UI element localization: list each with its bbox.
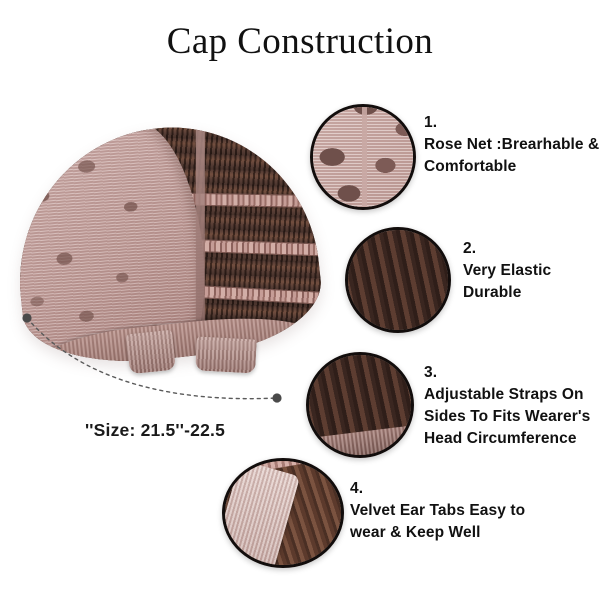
size-label: ''Size: 21.5''-22.5 [20,420,290,441]
velvet-tab-texture [222,458,344,568]
velvet-tab [222,460,299,568]
callout-2-text: 2. Very Elastic Durable [463,238,551,304]
callout-3-swatch-adjustable-strap-icon [306,352,414,458]
measurement-endpoint-dot [272,393,281,402]
callout-1-line-1: Rose Net :Brearhable & [424,134,599,156]
callout-4-line-2: wear & Keep Well [350,522,525,544]
callout-4-text: 4. Velvet Ear Tabs Easy to wear & Keep W… [350,478,525,544]
callout-1-number: 1. [424,112,599,134]
callout-3-line-3: Head Circumference [424,428,590,450]
callout-4-swatch-velvet-ear-tab-icon [222,458,344,568]
callout-3-line-1: Adjustable Straps On [424,384,590,406]
velvet-ear-tab [126,330,176,375]
lace-seam [362,104,367,210]
callout-1-swatch-rose-net-icon [310,104,416,210]
callout-3-text: 3. Adjustable Straps On Sides To Fits We… [424,362,590,450]
strap-texture [306,352,414,458]
elastic-texture [345,227,451,333]
elastic-strip [413,227,451,333]
rose-net-texture [310,104,416,210]
callout-4-number: 4. [350,478,525,500]
callout-2-line-1: Very Elastic [463,260,551,282]
page-title: Cap Construction [0,20,600,63]
adjustable-strap [195,336,257,373]
cap-construction-infographic: Cap Construction ''Size: 21.5''-22.5 1. … [0,0,600,600]
wig-cap-photo [8,120,328,385]
callout-2-number: 2. [463,238,551,260]
callout-1-text: 1. Rose Net :Brearhable & Comfortable [424,112,599,178]
callout-3-number: 3. [424,362,590,384]
callout-3-line-2: Sides To Fits Wearer's [424,406,590,428]
adjustable-strap-band [306,422,414,458]
callout-2-line-2: Durable [463,282,551,304]
callout-1-line-2: Comfortable [424,156,599,178]
callout-2-swatch-elastic-icon [345,227,451,333]
callout-4-line-1: Velvet Ear Tabs Easy to [350,500,525,522]
